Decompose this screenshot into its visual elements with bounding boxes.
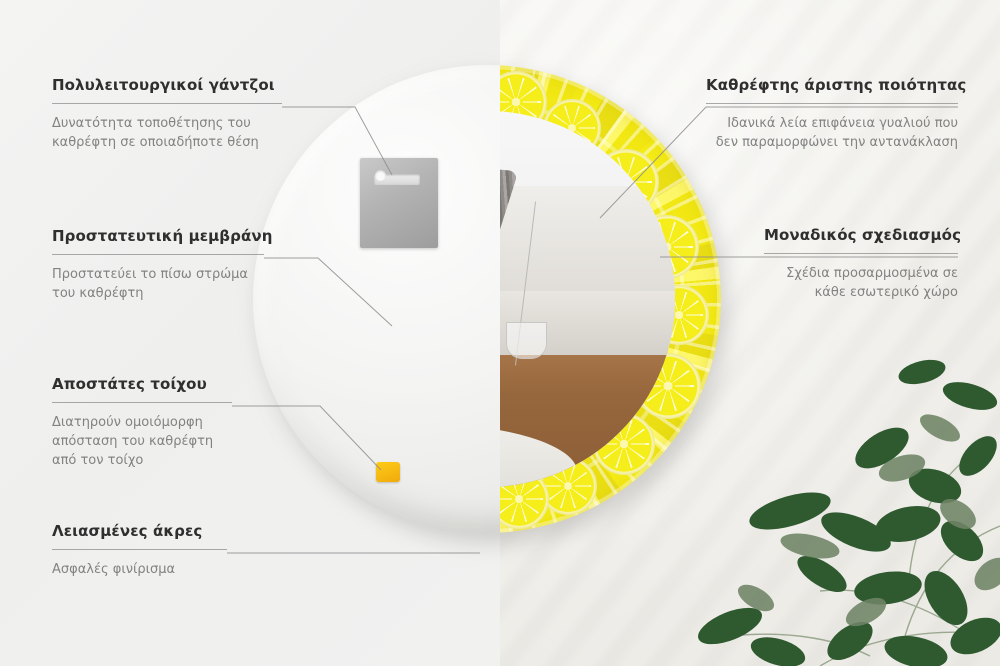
callout-title: Αποστάτες τοίχου <box>52 375 232 393</box>
callout-multifunctional-hooks: Πολυλειτουργικοί γάντζοι Δυνατότητα τοπο… <box>52 76 282 152</box>
callout-title: Πολυλειτουργικοί γάντζοι <box>52 76 282 94</box>
callout-unique-design: Μοναδικός σχεδιασμός Σχέδια προσαρμοσμέν… <box>764 226 958 302</box>
wall-spacer-marker <box>376 462 400 482</box>
callout-rule <box>52 549 227 550</box>
callout-rule <box>52 402 232 403</box>
mirror-product <box>253 65 721 533</box>
callout-rule <box>52 103 282 104</box>
callout-top-quality-mirror: Καθρέφτης άριστης ποιότητας Ιδανικά λεία… <box>706 76 958 152</box>
callout-title: Προστατευτική μεμβράνη <box>52 227 264 245</box>
callout-rule <box>706 103 958 104</box>
callout-description: Προστατεύει το πίσω στρώμα του καθρέφτη <box>52 265 264 303</box>
callout-rule <box>764 253 958 254</box>
callout-description: Διατηρούν ομοιόμορφη απόσταση του καθρέφ… <box>52 413 232 470</box>
callout-description: Δυνατότητα τοποθέτησης του καθρέφτη σε ο… <box>52 114 282 152</box>
callout-title: Καθρέφτης άριστης ποιότητας <box>706 76 958 94</box>
reflection-pendant-shade <box>506 322 547 360</box>
callout-title: Μοναδικός σχεδιασμός <box>764 226 958 244</box>
callout-description: Ασφαλές φινίρισμα <box>52 560 227 579</box>
infographic-stage: Πολυλειτουργικοί γάντζοι Δυνατότητα τοπο… <box>0 0 1000 666</box>
callout-protective-membrane: Προστατευτική μεμβράνη Προστατεύει το πί… <box>52 227 264 303</box>
callout-description: Ιδανικά λεία επιφάνεια γυαλιού που δεν π… <box>706 114 958 152</box>
callout-rule <box>52 254 264 255</box>
callout-description: Σχέδια προσαρμοσμένα σε κάθε εσωτερικό χ… <box>764 264 958 302</box>
callout-smoothed-edges: Λειασμένες άκρες Ασφαλές φινίρισμα <box>52 522 227 579</box>
callout-wall-spacers: Αποστάτες τοίχου Διατηρούν ομοιόμορφη απ… <box>52 375 232 470</box>
hook-keyhole-slot <box>374 174 420 185</box>
hook-plate-marker <box>360 158 438 248</box>
callout-title: Λειασμένες άκρες <box>52 522 227 540</box>
